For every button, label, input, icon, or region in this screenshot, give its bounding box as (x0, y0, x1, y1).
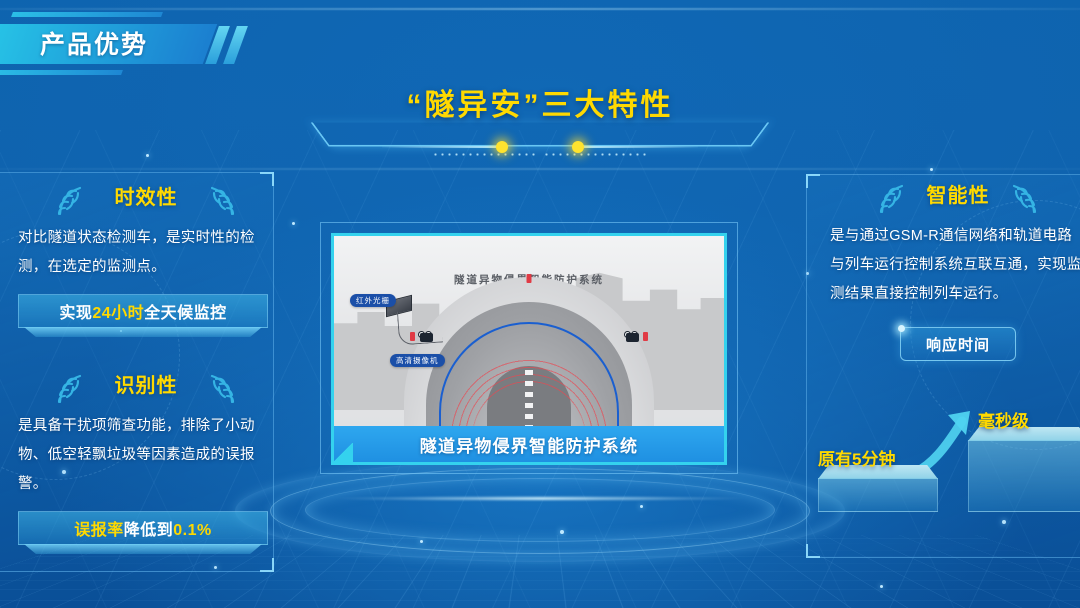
corner-bottom-left (806, 544, 820, 558)
feature-title: 智能性 (927, 185, 990, 207)
feature-highlight-slab: 实现24小时全天候监控 (18, 294, 268, 338)
tag-camera: 高清摄像机 (390, 354, 445, 367)
feature-title: 时效性 (115, 187, 178, 209)
tech-ring-mid (270, 468, 810, 554)
corner-bottom-right (260, 558, 274, 572)
feature-highlight-slab: 误报率降低到0.1% (18, 511, 268, 555)
response-time-label: 响应时间 (926, 334, 990, 355)
image-frame: 隧道异物侵界智能防护系统 红外光栅 高清摄像机 (331, 233, 727, 465)
feature-body: 是具备干扰项筛查功能，排除了小动物、低空轻飘垃圾等因素造成的误报警。 (18, 412, 274, 499)
slab-edge (24, 544, 262, 554)
sensor-marker-right (643, 332, 648, 341)
feature-intelligence: 智能性 是与通过GSM-R通信网络和轨道电路与列车运行控制系统互联互通，实现监测… (830, 176, 1080, 361)
section-banner: 产品优势 (0, 10, 330, 76)
laurel-right-icon (208, 184, 238, 218)
bar-label-current: 毫秒级 (978, 407, 1029, 432)
response-time-button[interactable]: 响应时间 (900, 327, 1016, 361)
feature-timeliness: 时效性 对比隧道状态检测车，是实时性的检测，在选定的监测点。 实现24小时全天候… (18, 178, 274, 338)
feature-title: 识别性 (115, 375, 178, 397)
sheen-line-mid (0, 168, 1080, 170)
image-caption-text: 隧道异物侵界智能防护系统 (420, 432, 638, 457)
feature-header: 识别性 (18, 366, 274, 412)
banner-title: 产品优势 (40, 26, 260, 64)
slab-text: 误报率降低到0.1% (74, 516, 212, 540)
center-image-panel: 隧道异物侵界智能防护系统 红外光栅 高清摄像机 (320, 222, 738, 474)
sensor-marker-top (527, 274, 532, 283)
title-node-right (572, 141, 584, 153)
feature-header: 智能性 (830, 176, 1080, 222)
title-decoration (320, 122, 760, 156)
title-dotted-right (543, 153, 648, 156)
slide-canvas: 产品优势 “隧异安”三大特性 (0, 0, 1080, 608)
camera-right-icon (622, 331, 642, 344)
page-title: “隧异安”三大特性 (407, 80, 674, 124)
bar-front-face (968, 440, 1080, 512)
laurel-left-icon (54, 372, 84, 406)
ring-glow (330, 497, 750, 500)
device-cable (397, 309, 443, 346)
title-node-left (496, 141, 508, 153)
tech-ring-inner (305, 478, 775, 542)
tech-ring-outer (235, 460, 845, 562)
title-line-left (382, 146, 500, 148)
laurel-right-icon (1010, 182, 1040, 216)
slab-text: 实现24小时全天候监控 (59, 299, 226, 323)
title-dotted-left (432, 153, 537, 156)
bar-label-previous: 原有5分钟 (818, 445, 895, 470)
slab-edge (24, 327, 262, 337)
title-line-right (580, 146, 698, 148)
feature-body: 是与通过GSM-R通信网络和轨道电路与列车运行控制系统互联互通，实现监测结果直接… (830, 222, 1080, 309)
banner-stripe-top (11, 12, 163, 17)
laurel-left-icon (54, 184, 84, 218)
feature-header: 时效性 (18, 178, 274, 224)
image-caption-bar: 隧道异物侵界智能防护系统 (334, 426, 724, 462)
feature-recognition: 识别性 是具备干扰项筛查功能，排除了小动物、低空轻飘垃圾等因素造成的误报警。 误… (18, 366, 274, 555)
banner-stripe-bottom (0, 70, 123, 75)
spark-icon (898, 325, 905, 332)
slab-top: 误报率降低到0.1% (18, 511, 268, 545)
main-title-block: “隧异安”三大特性 (0, 80, 1080, 158)
response-time-chart: 原有5分钟 毫秒级 (818, 405, 1080, 515)
tag-infrared: 红外光栅 (350, 294, 396, 307)
laurel-left-icon (876, 182, 906, 216)
feature-body: 对比隧道状态检测车，是实时性的检测，在选定的监测点。 (18, 224, 274, 282)
panel-corner-accent (333, 443, 353, 463)
bar-front-face (818, 478, 938, 512)
laurel-right-icon (208, 372, 238, 406)
title-bracket (311, 122, 770, 146)
corner-top-left (806, 174, 820, 188)
slab-top: 实现24小时全天候监控 (18, 294, 268, 328)
